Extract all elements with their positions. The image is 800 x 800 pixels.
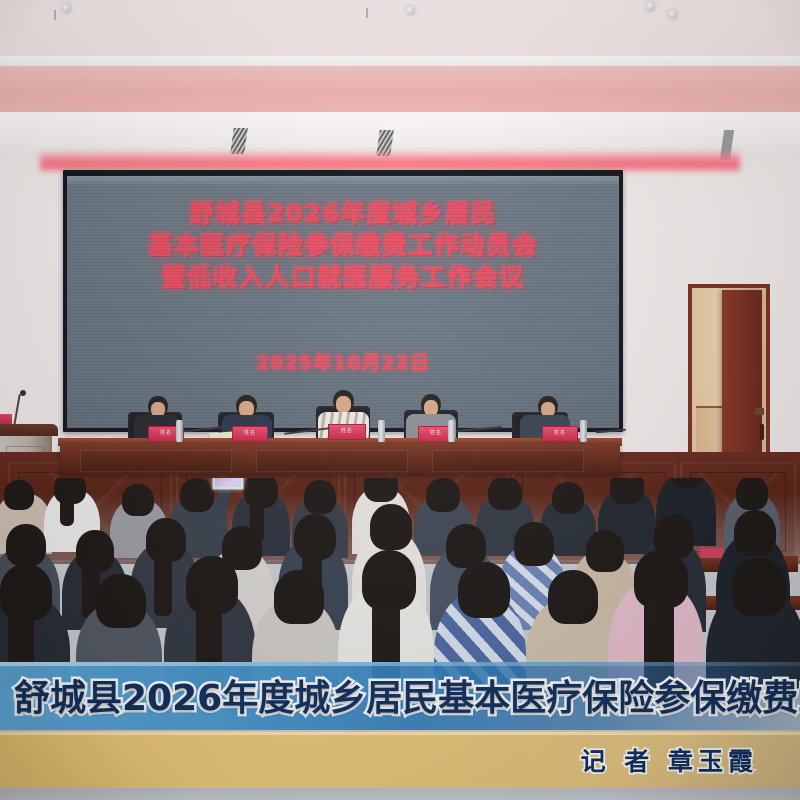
table-panel [432, 450, 584, 472]
door-handle-icon[interactable] [760, 424, 764, 440]
microphone-icon [20, 390, 26, 396]
door-plate-icon [755, 408, 764, 415]
ceiling-light-stem [366, 8, 368, 18]
led-title-line-1: 舒城县2026年度城乡居民 [67, 198, 619, 230]
placard-text: 姓名 [329, 425, 365, 438]
ceiling-light-icon [668, 10, 677, 19]
reporter-credit: 记 者 章玉霞 [581, 732, 758, 788]
led-wash-glow [40, 150, 740, 172]
table-panel [80, 450, 232, 472]
audience [0, 478, 800, 690]
led-title-line-2: 基本医疗保险参保缴费工作动员会 [67, 230, 619, 262]
table-panel [256, 450, 408, 472]
thermos [176, 420, 183, 442]
podium-mic-stem [13, 394, 21, 426]
placard-text: 姓名 [233, 427, 267, 440]
podium-top [0, 424, 58, 436]
led-screen-title: 舒城县2026年度城乡居民 基本医疗保险参保缴费工作动员会 暨低收入人口就医服务… [67, 198, 619, 294]
ceiling-light-icon [62, 4, 71, 13]
placard-text: 姓名 [543, 427, 577, 440]
ceiling-band [0, 56, 800, 66]
thermos [448, 420, 455, 442]
thermos [378, 420, 385, 442]
ceiling-light-icon [646, 2, 655, 11]
smartphone-icon [212, 478, 244, 490]
video-frame: 舒城县2026年度城乡居民 基本医疗保险参保缴费工作动员会 暨低收入人口就医服务… [0, 0, 800, 800]
headline-text: 舒城县2026年度城乡居民基本医疗保险参保缴费工作动员会召开 [14, 660, 800, 730]
ceiling-light-icon [406, 6, 415, 15]
lower-third-banner: 舒城县2026年度城乡居民基本医疗保险参保缴费工作动员会召开 记 者 章玉霞 [0, 662, 800, 800]
led-screen-date: 2025年10月22日 [67, 348, 619, 375]
name-placard: 姓名 [232, 426, 268, 442]
screen-glare [67, 176, 619, 186]
thermos [580, 420, 587, 442]
ceiling-cove-pink [0, 66, 800, 118]
name-placard: 姓名 [328, 424, 366, 440]
name-placard: 姓名 [542, 426, 578, 442]
led-title-line-3: 暨低收入人口就医服务工作会议 [67, 262, 619, 294]
banner-bottom-shadow [0, 788, 800, 800]
head-table-front [60, 444, 620, 474]
ceiling-light-stem [54, 10, 56, 20]
panelist-face [336, 396, 351, 413]
